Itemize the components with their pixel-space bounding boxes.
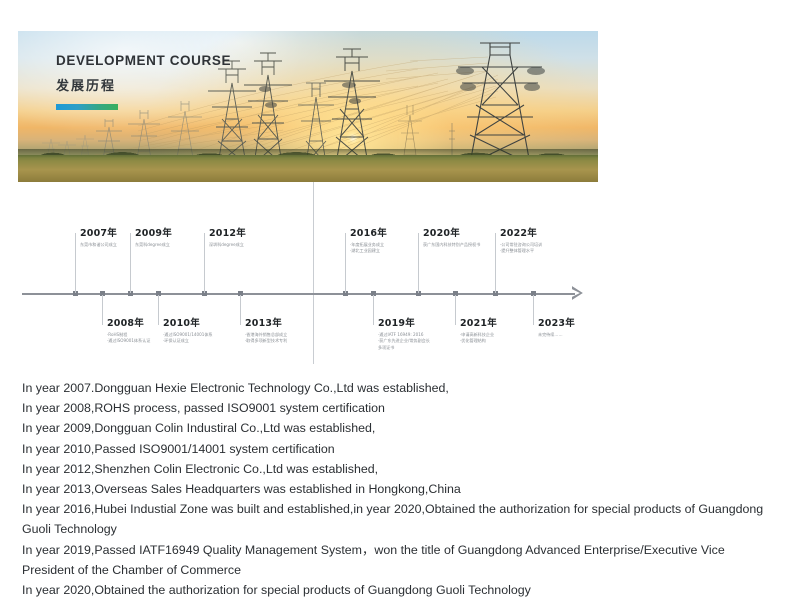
timeline-description-line: ·湖北工业园建立 [350, 248, 478, 254]
timeline-stem [130, 233, 131, 293]
field-ground [18, 155, 598, 182]
hero-title-chinese: 发展历程 [56, 75, 231, 94]
timeline-description-line: 多项证书 [378, 345, 506, 351]
timeline: 2007年东莞市和谐公司成立2008年·RoHS制程·通过ISO9001体系认证… [0, 205, 785, 375]
timeline-year: 2022年 [500, 225, 628, 239]
hero-heading-block: DEVELOPMENT COURSE 发展历程 [56, 53, 231, 110]
timeline-description-line: ·取得多项新型技术专利 [245, 338, 373, 344]
timeline-stem [102, 295, 103, 325]
timeline-year: 2013年 [245, 315, 373, 329]
timeline-description: ·公司常驻咨询公司培训·提升整体管理水平 [500, 242, 628, 255]
timeline-stem [158, 295, 159, 325]
history-line: In year 2012,Shenzhen Colin Electronic C… [22, 459, 774, 479]
timeline-label: 2023年未完待续…… [538, 315, 666, 338]
timeline-year: 2023年 [538, 315, 666, 329]
history-line: In year 2019,Passed IATF16949 Quality Ma… [22, 540, 774, 580]
timeline-description-line: ·优化管理结构 [460, 338, 588, 344]
timeline-stem [204, 233, 205, 293]
timeline-stem [533, 295, 534, 325]
timeline-description-line: 深圳科degree成立 [209, 242, 337, 248]
timeline-stem [455, 295, 456, 325]
history-line: In year 2020,Obtained the authorization … [22, 580, 774, 600]
timeline-year: 2012年 [209, 225, 337, 239]
history-line: In year 2010,Passed ISO9001/14001 system… [22, 439, 774, 459]
hero-banner: DEVELOPMENT COURSE 发展历程 [18, 31, 598, 182]
timeline-description: 未完待续…… [538, 332, 666, 338]
timeline-description: 深圳科degree成立 [209, 242, 337, 248]
timeline-stem [418, 233, 419, 293]
accent-bar [56, 104, 118, 110]
history-line: In year 2016,Hubei Industial Zone was bu… [22, 499, 774, 539]
timeline-label: 2012年深圳科degree成立 [209, 225, 337, 248]
history-line: In year 2008,ROHS process, passed ISO900… [22, 398, 774, 418]
timeline-stem [240, 295, 241, 325]
timeline-stem [75, 233, 76, 293]
history-line: In year 2009,Dongguan Colin Industiral C… [22, 418, 774, 438]
development-course-page: DEVELOPMENT COURSE 发展历程 2007年东莞市和谐公司成立20… [0, 0, 785, 600]
hero-title-english: DEVELOPMENT COURSE [56, 53, 231, 68]
timeline-label: 2022年·公司常驻咨询公司培训·提升整体管理水平 [500, 225, 628, 255]
timeline-stem [495, 233, 496, 293]
history-line: In year 2007.Dongguan Hexie Electronic T… [22, 378, 774, 398]
timeline-stem [345, 233, 346, 293]
timeline-description-line: ·提升整体管理水平 [500, 248, 628, 254]
timeline-description: ·香港海外销售总部成立·取得多项新型技术专利 [245, 332, 373, 345]
history-line: In year 2013,Overseas Sales Headquarters… [22, 479, 774, 499]
timeline-label: 2013年·香港海外销售总部成立·取得多项新型技术专利 [245, 315, 373, 345]
timeline-stem [373, 295, 374, 325]
timeline-description-line: 未完待续…… [538, 332, 666, 338]
history-text-block: In year 2007.Dongguan Hexie Electronic T… [22, 378, 774, 600]
